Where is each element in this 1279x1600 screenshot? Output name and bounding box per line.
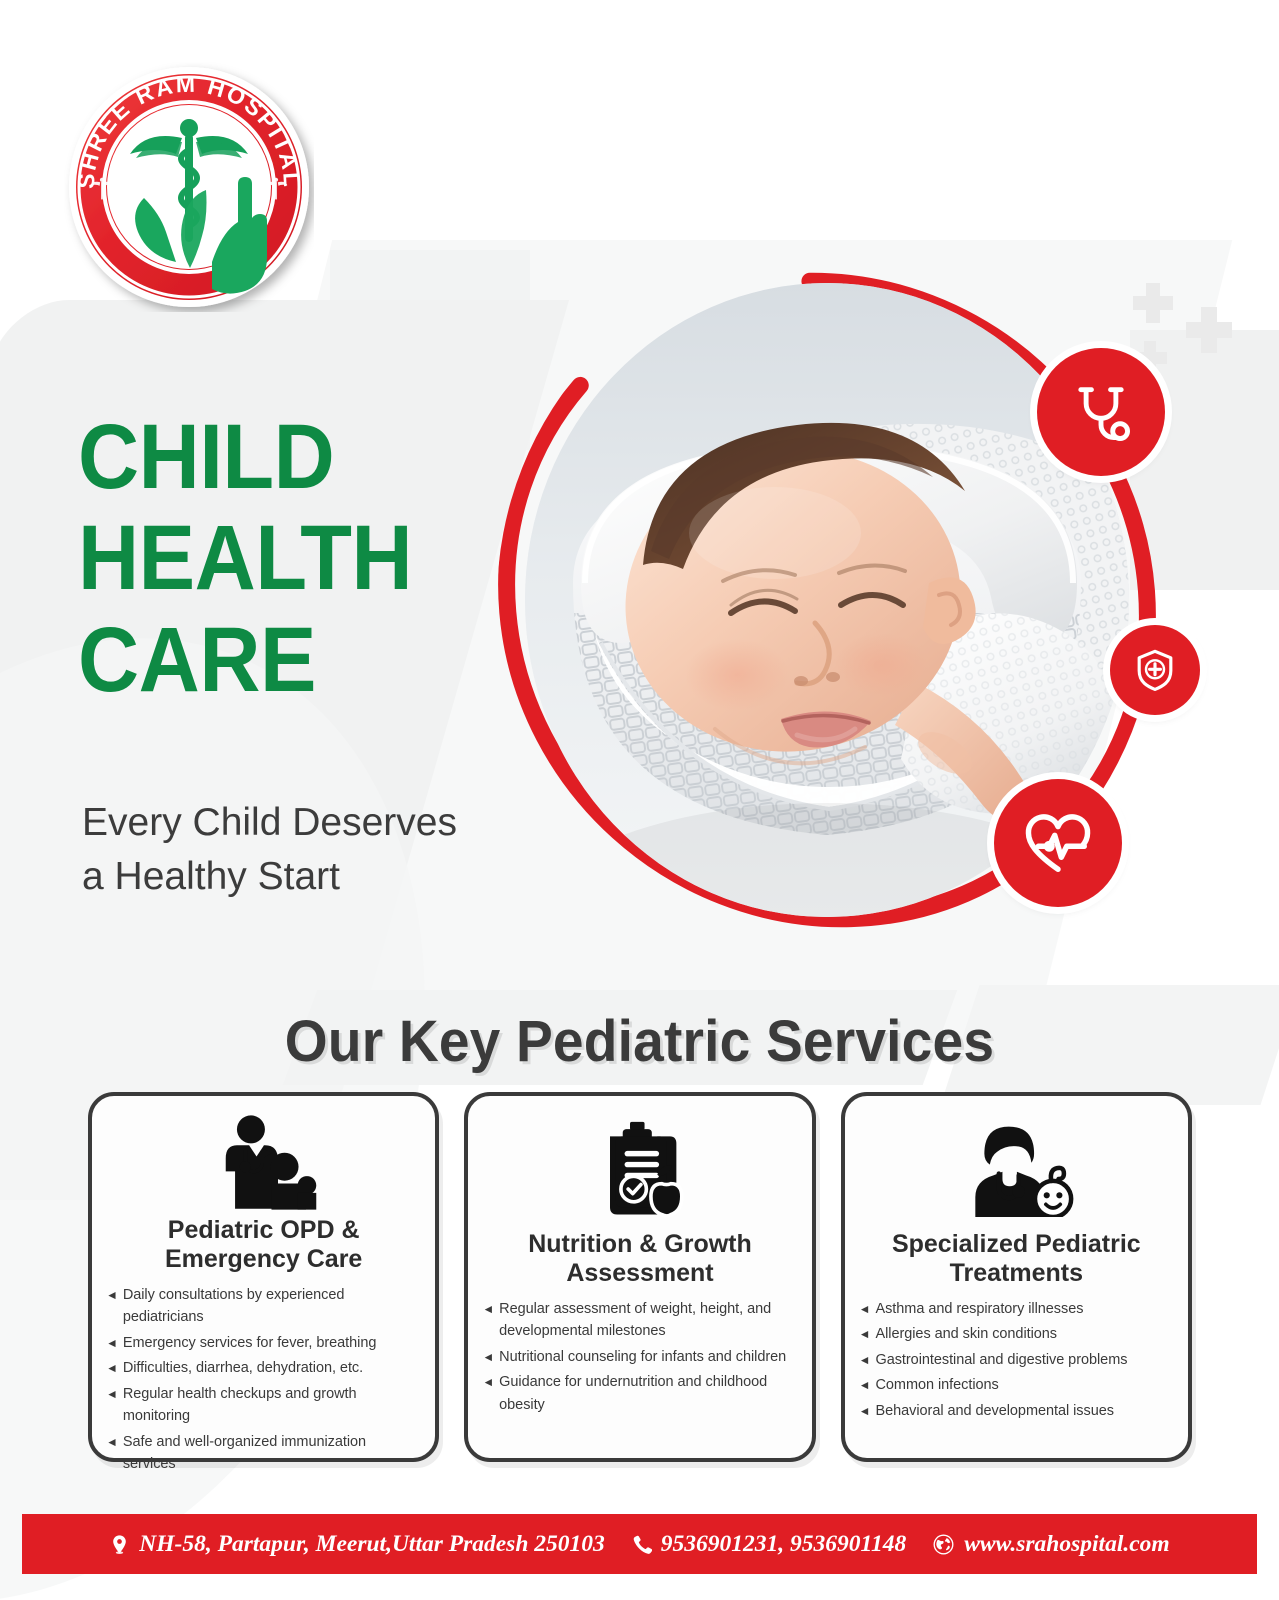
service-card-pediatric-opd[interactable]: Pediatric OPD & Emergency Care ◄Daily co… [88,1092,439,1462]
phone-icon [631,1534,652,1555]
list-item-text: Common infections [875,1374,998,1396]
headline-line-3: CARE [78,617,412,704]
service-card-bullets: ◄Regular assessment of weight, height, a… [482,1298,797,1419]
list-item-text: Regular health checkups and growth monit… [123,1383,422,1428]
contact-footer-bar: NH-58, Partapur, Meerut,Uttar Pradesh 25… [22,1514,1257,1574]
headline-line-1: CHILD [78,414,412,501]
list-item: ◄Gastrointestinal and digestive problems [859,1349,1174,1371]
bullet-marker: ◄ [106,1332,118,1354]
list-item-text: Difficulties, diarrhea, dehydration, etc… [123,1357,363,1379]
list-item-text: Asthma and respiratory illnesses [875,1298,1083,1320]
pediatrician-with-baby-icon [957,1114,1075,1226]
bullet-marker: ◄ [859,1323,871,1345]
service-card-title: Nutrition & Growth Assessment [482,1230,797,1288]
list-item: ◄Emergency services for fever, breathing [106,1332,421,1354]
bullet-marker: ◄ [859,1349,871,1371]
list-item-text: Emergency services for fever, breathing [123,1332,377,1354]
shield-cross-icon-bubble [1110,625,1200,715]
list-item: ◄Regular health checkups and growth moni… [106,1383,421,1428]
service-card-specialized-treatments[interactable]: Specialized Pediatric Treatments ◄Asthma… [841,1092,1192,1462]
list-item-text: Safe and well-organized immunization ser… [123,1431,422,1476]
page-headline: CHILD HEALTH CARE [78,414,412,718]
clipboard-apple-icon [590,1114,690,1226]
page-subheadline: Every Child Deserves a Healthy Start [82,796,457,904]
list-item-text: Behavioral and developmental issues [875,1400,1113,1422]
service-card-bullets: ◄Daily consultations by experienced pedi… [106,1284,421,1479]
service-card-title: Pediatric OPD & Emergency Care [106,1216,421,1274]
hospital-logo: SHREE RAM HOSPITAL MEERUT [64,62,314,312]
bullet-marker: ◄ [106,1357,118,1379]
list-item-text: Gastrointestinal and digestive problems [875,1349,1127,1371]
list-item-text: Allergies and skin conditions [875,1323,1057,1345]
footer-phones-text: 9536901231, 9536901148 [661,1531,906,1558]
list-item-text: Regular assessment of weight, height, an… [499,1298,798,1343]
list-item: ◄Difficulties, diarrhea, dehydration, et… [106,1357,421,1379]
service-card-bullets: ◄Asthma and respiratory illnesses ◄Aller… [859,1298,1174,1425]
location-pin-icon [109,1534,130,1555]
bullet-marker: ◄ [106,1383,118,1405]
footer-address-text: NH-58, Partapur, Meerut,Uttar Pradesh 25… [139,1531,604,1558]
bullet-marker: ◄ [106,1284,118,1306]
subheadline-line-2: a Healthy Start [82,850,457,904]
bullet-marker: ◄ [859,1374,871,1396]
list-item: ◄Asthma and respiratory illnesses [859,1298,1174,1320]
doctor-and-child-icon [208,1114,320,1212]
list-item: ◄Daily consultations by experienced pedi… [106,1284,421,1329]
footer-website[interactable]: www.srahospital.com [932,1531,1169,1558]
services-card-list: Pediatric OPD & Emergency Care ◄Daily co… [88,1092,1192,1462]
bullet-marker: ◄ [482,1298,494,1320]
bullet-marker: ◄ [859,1298,871,1320]
list-item: ◄Guidance for undernutrition and childho… [482,1371,797,1416]
list-item: ◄Allergies and skin conditions [859,1323,1174,1345]
shield-cross-icon [1132,647,1178,693]
footer-address: NH-58, Partapur, Meerut,Uttar Pradesh 25… [109,1531,604,1558]
globe-icon [932,1533,955,1556]
subheadline-line-1: Every Child Deserves [82,796,457,850]
bullet-marker: ◄ [482,1371,494,1393]
footer-phones: 9536901231, 9536901148 [631,1531,906,1558]
service-card-title: Specialized Pediatric Treatments [859,1230,1174,1288]
footer-website-text: www.srahospital.com [964,1531,1169,1558]
decor-plus-icon-2 [1186,307,1232,353]
services-section-title: Our Key Pediatric Services [32,1008,1247,1075]
heart-pulse-icon-bubble [994,779,1122,907]
heart-pulse-icon [1023,808,1093,878]
bullet-marker: ◄ [482,1346,494,1368]
stethoscope-icon-bubble [1037,348,1165,476]
list-item: ◄Common infections [859,1374,1174,1396]
service-card-nutrition-growth[interactable]: Nutrition & Growth Assessment ◄Regular a… [464,1092,815,1462]
list-item-text: Guidance for undernutrition and childhoo… [499,1371,798,1416]
bullet-marker: ◄ [859,1400,871,1422]
list-item-text: Daily consultations by experienced pedia… [123,1284,422,1329]
list-item: ◄Regular assessment of weight, height, a… [482,1298,797,1343]
list-item: ◄Safe and well-organized immunization se… [106,1431,421,1476]
bullet-marker: ◄ [106,1431,118,1453]
list-item-text: Nutritional counseling for infants and c… [499,1346,786,1368]
list-item: ◄Nutritional counseling for infants and … [482,1346,797,1368]
stethoscope-icon [1067,378,1135,446]
headline-line-2: HEALTH [78,515,412,602]
list-item: ◄Behavioral and developmental issues [859,1400,1174,1422]
